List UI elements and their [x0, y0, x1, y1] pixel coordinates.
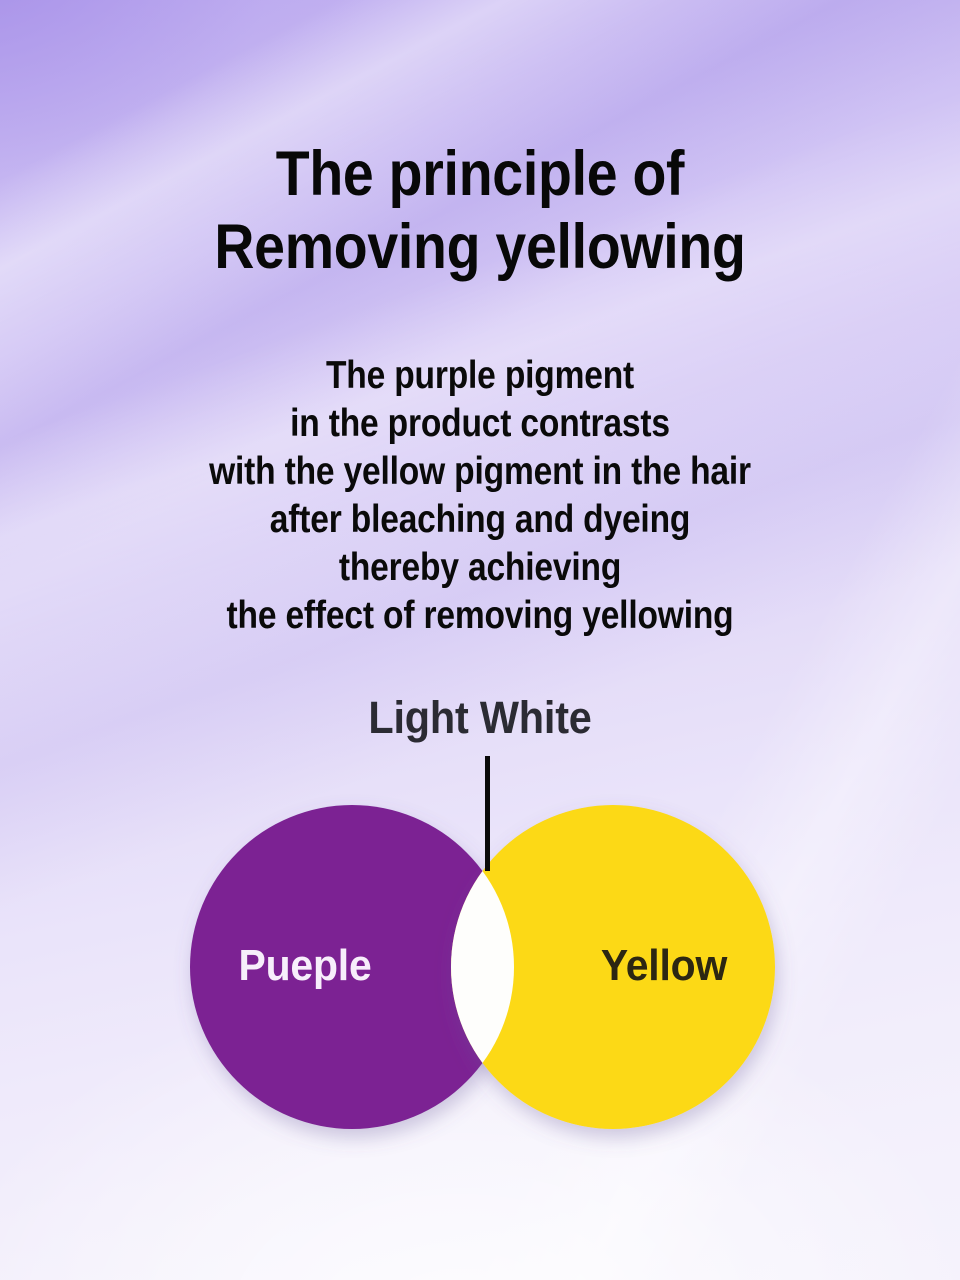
- venn-label-purple: Pueple: [217, 941, 394, 991]
- venn-diagram-svg: [0, 0, 960, 1280]
- poster-content: The principle of Removing yellowing The …: [0, 0, 960, 1280]
- venn-label-yellow: Yellow: [575, 941, 754, 991]
- infographic-poster: The principle of Removing yellowing The …: [0, 0, 960, 1280]
- overlap-pointer-line: [485, 756, 490, 871]
- venn-diagram: Pueple Yellow: [0, 0, 960, 1280]
